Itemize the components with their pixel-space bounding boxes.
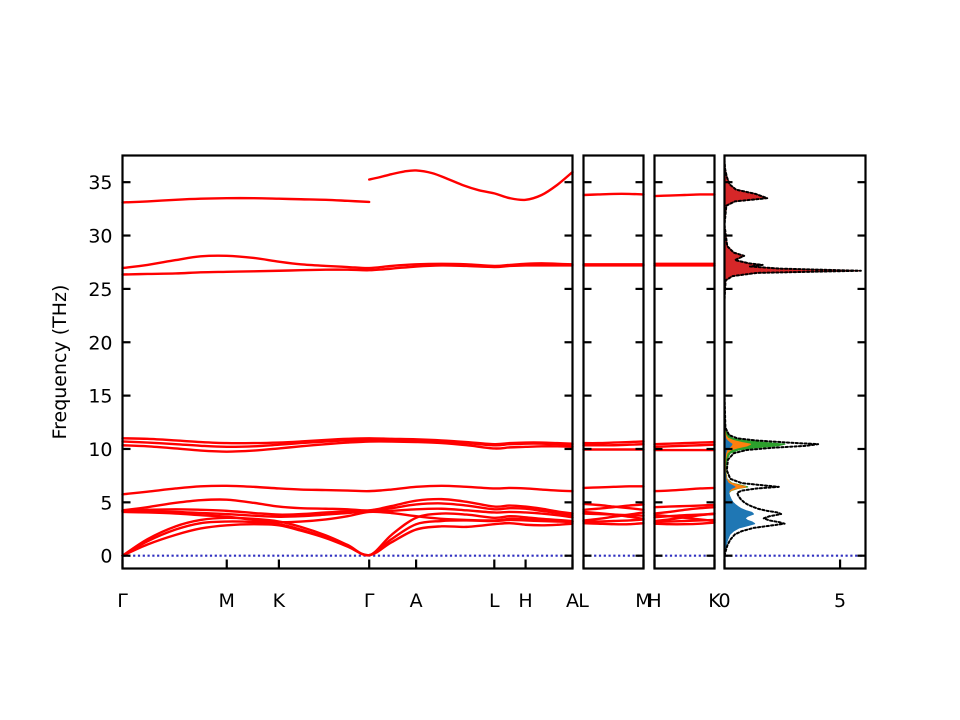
- bandstructure-panel-1: ΓMKΓALHA: [117, 156, 579, 613]
- band-curve-b14: [584, 194, 644, 195]
- y-tick-label-35: 35: [88, 172, 112, 194]
- dos-background: [725, 156, 866, 569]
- x-tick-label-H: H: [518, 590, 532, 612]
- dos-panel: 05: [718, 156, 865, 613]
- x-tick-label-Γ: Γ: [117, 590, 128, 612]
- y-tick-label-30: 30: [88, 226, 112, 248]
- x-tick-label-A: A: [566, 590, 579, 612]
- dos-x-tick-label-0: 0: [718, 590, 730, 612]
- x-tick-label-Γ: Γ: [364, 590, 375, 612]
- x-tick-label-H: H: [647, 590, 661, 612]
- dos-x-tick-label-5: 5: [834, 590, 846, 612]
- y-tick-label-5: 5: [100, 492, 112, 514]
- y-tick-label-20: 20: [88, 332, 112, 354]
- y-tick-label-25: 25: [88, 279, 112, 301]
- phonon-figure: ΓMKΓALHALMHK05101520253035Frequency (THz…: [0, 0, 960, 720]
- band-curve-b1: [584, 523, 644, 524]
- x-tick-label-A: A: [410, 590, 423, 612]
- y-tick-label-0: 0: [100, 546, 112, 568]
- y-axis-label: Frequency (THz): [49, 285, 71, 440]
- y-axis: 05101520253035Frequency (THz): [49, 172, 113, 568]
- x-tick-label-L: L: [489, 590, 500, 612]
- y-tick-label-10: 10: [88, 439, 112, 461]
- bandstructure-panel-2: LM: [578, 156, 652, 613]
- x-tick-label-M: M: [219, 590, 235, 612]
- x-tick-label-L: L: [578, 590, 589, 612]
- x-tick-label-K: K: [273, 590, 286, 612]
- phonon-plot-svg: ΓMKΓALHALMHK05101520253035Frequency (THz…: [0, 0, 960, 720]
- bandstructure-panel-3: HK: [647, 156, 721, 613]
- y-tick-label-15: 15: [88, 386, 112, 408]
